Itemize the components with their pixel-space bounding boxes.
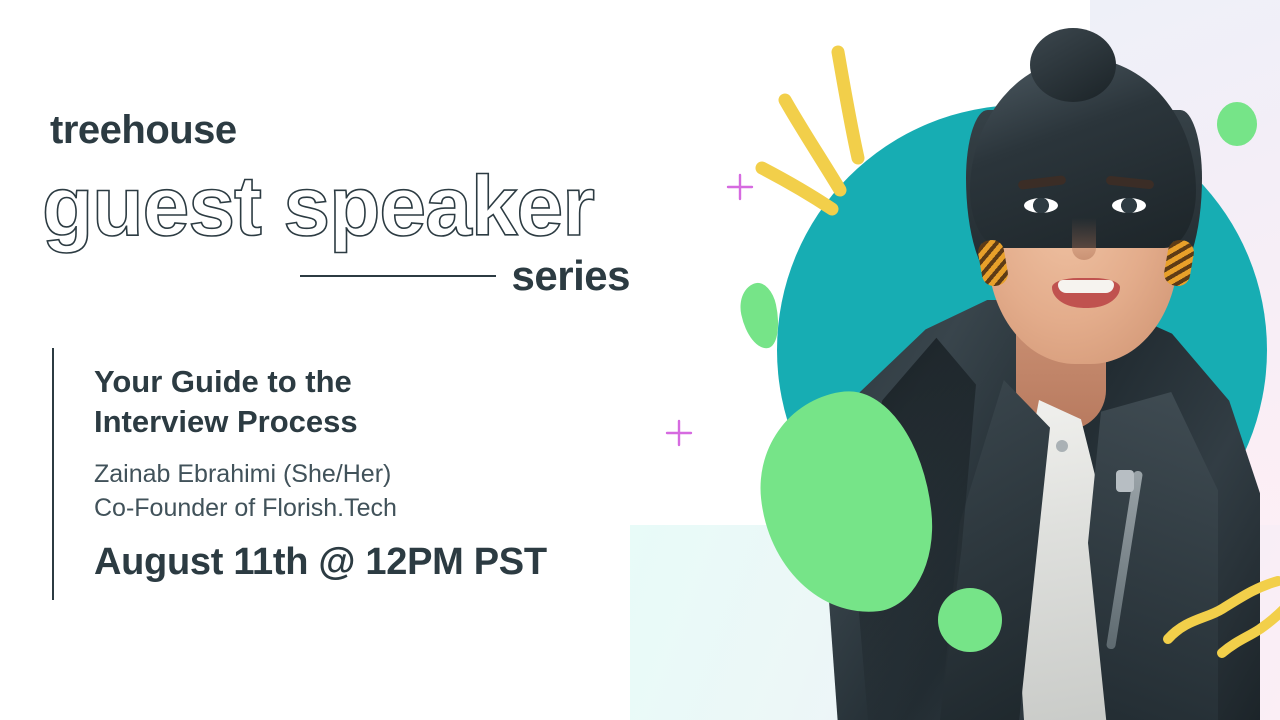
portrait-eye-right: [1112, 198, 1146, 213]
portrait-hair-bun: [1030, 28, 1116, 102]
speaker-name: Zainab Ebrahimi (She/Her): [94, 457, 547, 491]
speaker-portrait-photo: [820, 0, 1260, 720]
portrait-eye-left: [1024, 198, 1058, 213]
series-label: series: [512, 252, 630, 300]
plus-mark-top-icon: [725, 172, 755, 202]
headline-outline-text: guest speaker: [42, 158, 594, 255]
portrait-jacket-stud: [1056, 440, 1068, 452]
brand-wordmark: treehouse: [50, 108, 237, 153]
series-divider-rule: [300, 275, 496, 277]
portrait-teeth: [1058, 280, 1114, 293]
event-detail-text: Your Guide to the Interview Process Zain…: [94, 348, 547, 600]
promo-slide: treehouse guest speaker series Your Guid…: [0, 0, 1280, 720]
event-datetime: August 11th @ 12PM PST: [94, 541, 547, 584]
portrait-nose: [1072, 218, 1096, 260]
green-circle-bottom-shape: [938, 588, 1002, 652]
event-detail-vertical-rule: [52, 348, 54, 600]
speaker-role: Co-Founder of Florish.Tech: [94, 491, 547, 525]
plus-mark-mid-icon: [664, 418, 694, 448]
portrait-zipper-pull: [1116, 470, 1134, 492]
green-circle-top-shape: [1217, 102, 1257, 146]
series-row: series: [300, 252, 630, 300]
event-detail-block: Your Guide to the Interview Process Zain…: [52, 348, 632, 600]
event-title: Your Guide to the Interview Process: [94, 362, 547, 441]
